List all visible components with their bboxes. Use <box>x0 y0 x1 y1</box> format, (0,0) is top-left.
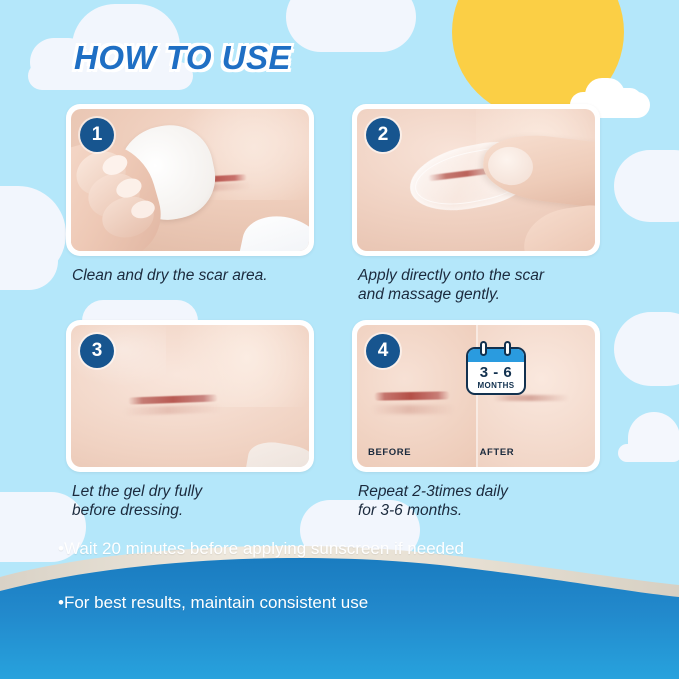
step-2-caption: Apply directly onto the scar and massage… <box>358 266 620 304</box>
step-2-photo-frame: 2 <box>352 104 600 256</box>
calendar-ring-right-icon <box>504 341 511 356</box>
cloud-decoration-bottom-right-base <box>618 444 679 462</box>
step-1-photo-frame: 1 <box>66 104 314 256</box>
before-label: BEFORE <box>368 447 411 458</box>
step-4-photo: BEFORE AFTER 3 - 6 MONTHS 4 <box>357 325 595 467</box>
step-3-photo-frame: 3 <box>66 320 314 472</box>
step-2-photo: 2 <box>357 109 595 251</box>
page-title: HOW TO USE <box>74 39 291 77</box>
cloud-decoration-left-middle <box>0 186 66 282</box>
scar-mark-after <box>493 395 569 401</box>
cloud-decoration-upper-right <box>286 0 416 52</box>
calendar-body: 3 - 6 MONTHS <box>466 347 526 395</box>
infographic-canvas: HOW TO USE <box>0 0 679 679</box>
step-1-photo: 1 <box>71 109 309 251</box>
step-3-photo: 3 <box>71 325 309 467</box>
step-1-caption: Clean and dry the scar area. <box>72 266 332 285</box>
calendar-badge: 3 - 6 MONTHS <box>466 341 526 395</box>
cloud-decoration-bottom-right <box>628 412 679 456</box>
after-label: AFTER <box>480 447 515 458</box>
bottom-banner: •Wait 20 minutes before applying sunscre… <box>0 539 679 679</box>
calendar-unit: MONTHS <box>468 381 524 390</box>
step-number-badge-3: 3 <box>80 334 114 368</box>
calendar-ring-left-icon <box>480 341 487 356</box>
banner-bullet-1: •Wait 20 minutes before applying sunscre… <box>58 535 464 562</box>
step-number-badge-2: 2 <box>366 118 400 152</box>
calendar-range: 3 - 6 <box>468 364 524 381</box>
cloud-decoration-right-lower <box>614 312 679 386</box>
step-number-badge-1: 1 <box>80 118 114 152</box>
step-4-photo-frame: BEFORE AFTER 3 - 6 MONTHS 4 <box>352 320 600 472</box>
sun-icon <box>452 0 624 118</box>
banner-bullets: •Wait 20 minutes before applying sunscre… <box>58 508 464 643</box>
step-number-badge-4: 4 <box>366 334 400 368</box>
banner-bullet-2: •For best results, maintain consistent u… <box>58 589 464 616</box>
cloud-decoration-left-middle-b <box>0 232 58 290</box>
cloud-decoration-right-middle <box>614 150 679 222</box>
scar-mark-before <box>374 391 450 400</box>
cloud-decoration-sun-puff-b <box>612 88 642 112</box>
calendar-header-bar <box>468 349 524 362</box>
